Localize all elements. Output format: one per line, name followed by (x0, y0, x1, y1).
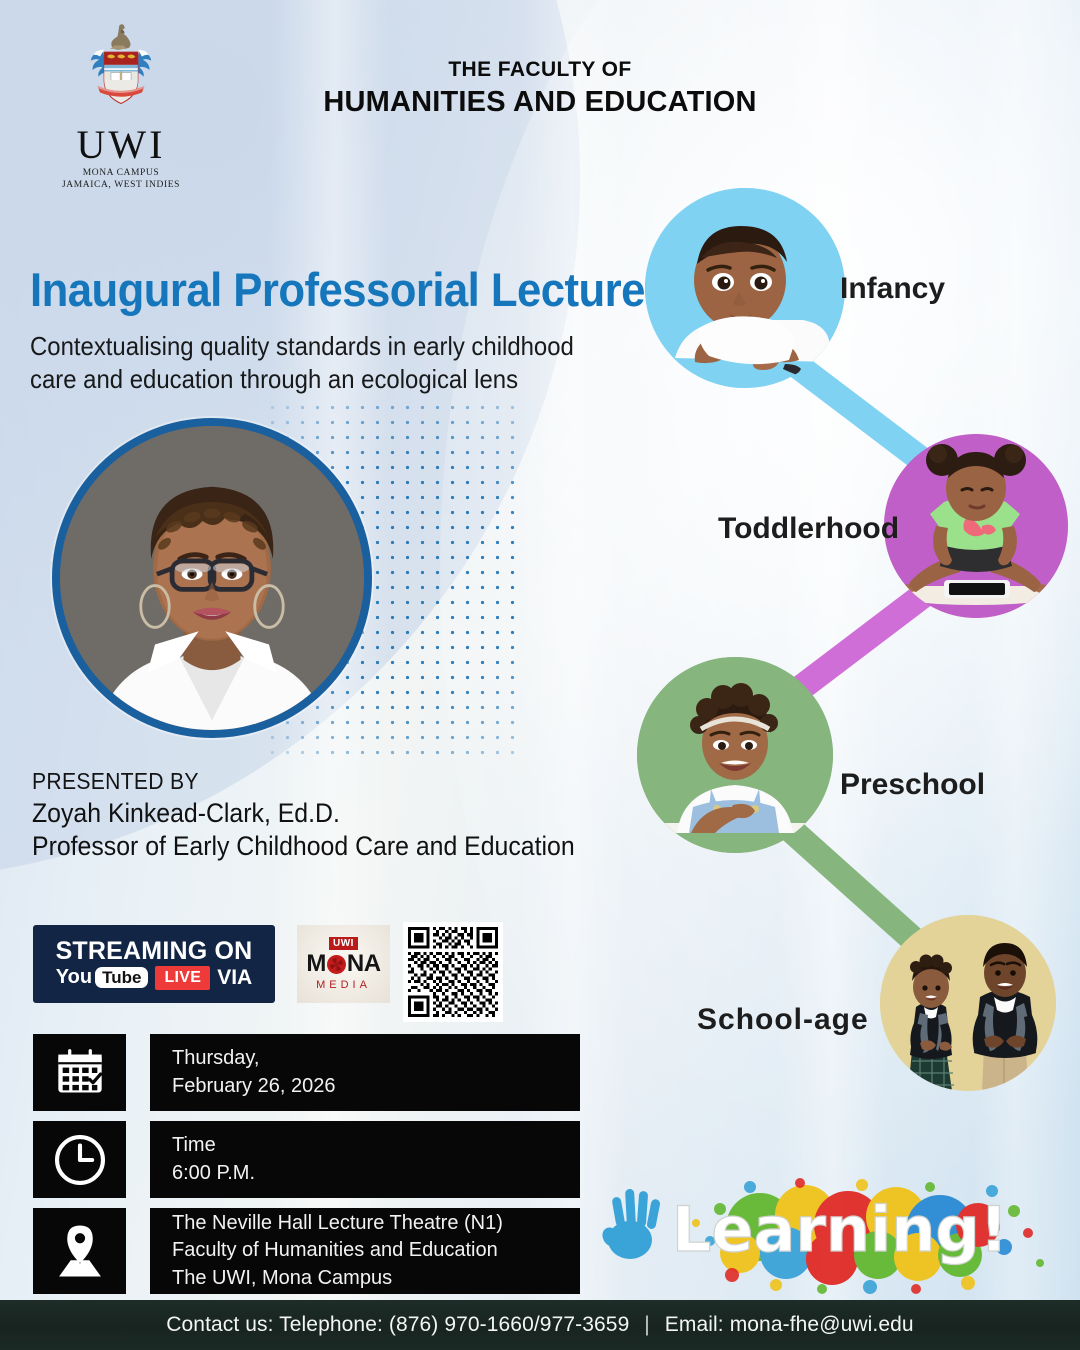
telephone-label: Telephone: (279, 1313, 383, 1336)
connector-infancy-toddlerhood (790, 360, 935, 470)
developmental-stages-connectors (0, 0, 1080, 1350)
learning-word-art: Learning! (600, 1175, 1075, 1300)
connector-preschool-schoolage (780, 820, 925, 950)
stage-label-toddlerhood: Toddlerhood (718, 512, 899, 546)
stage-circle-toddlerhood (884, 434, 1068, 618)
school-girl (908, 955, 954, 1092)
stage-circle-preschool (637, 657, 833, 853)
connector-toddlerhood-preschool (785, 590, 930, 700)
contact-label: Contact us: (166, 1313, 273, 1336)
stage-label-school-age: School-age (697, 1003, 869, 1037)
handprint-icon (600, 1189, 661, 1259)
contact-footer: Contact us: Telephone: (876) 970-1660/97… (0, 1300, 1080, 1350)
school-age-photo (880, 915, 1056, 1091)
stage-label-preschool: Preschool (840, 768, 985, 802)
email-address[interactable]: mona-fhe@uwi.edu (730, 1313, 914, 1336)
poster-canvas: UWI MONA CAMPUS JAMAICA, WEST INDIES THE… (0, 0, 1080, 1350)
email-label: Email: (665, 1313, 724, 1336)
preschool-photo (637, 657, 833, 853)
footer-separator: | (644, 1313, 650, 1337)
learning-text: Learning! (672, 1193, 1008, 1266)
toddlerhood-photo (884, 434, 1068, 618)
infancy-photo (645, 188, 845, 388)
telephone-number[interactable]: (876) 970-1660/977-3659 (389, 1313, 630, 1336)
stage-circle-school-age (880, 915, 1056, 1091)
learning-splash-graphic: Learning! (600, 1175, 1075, 1300)
stage-label-infancy: Infancy (840, 272, 945, 306)
stage-circle-infancy (645, 188, 845, 388)
footer-contact-text: Contact us: Telephone: (876) 970-1660/97… (166, 1313, 913, 1337)
